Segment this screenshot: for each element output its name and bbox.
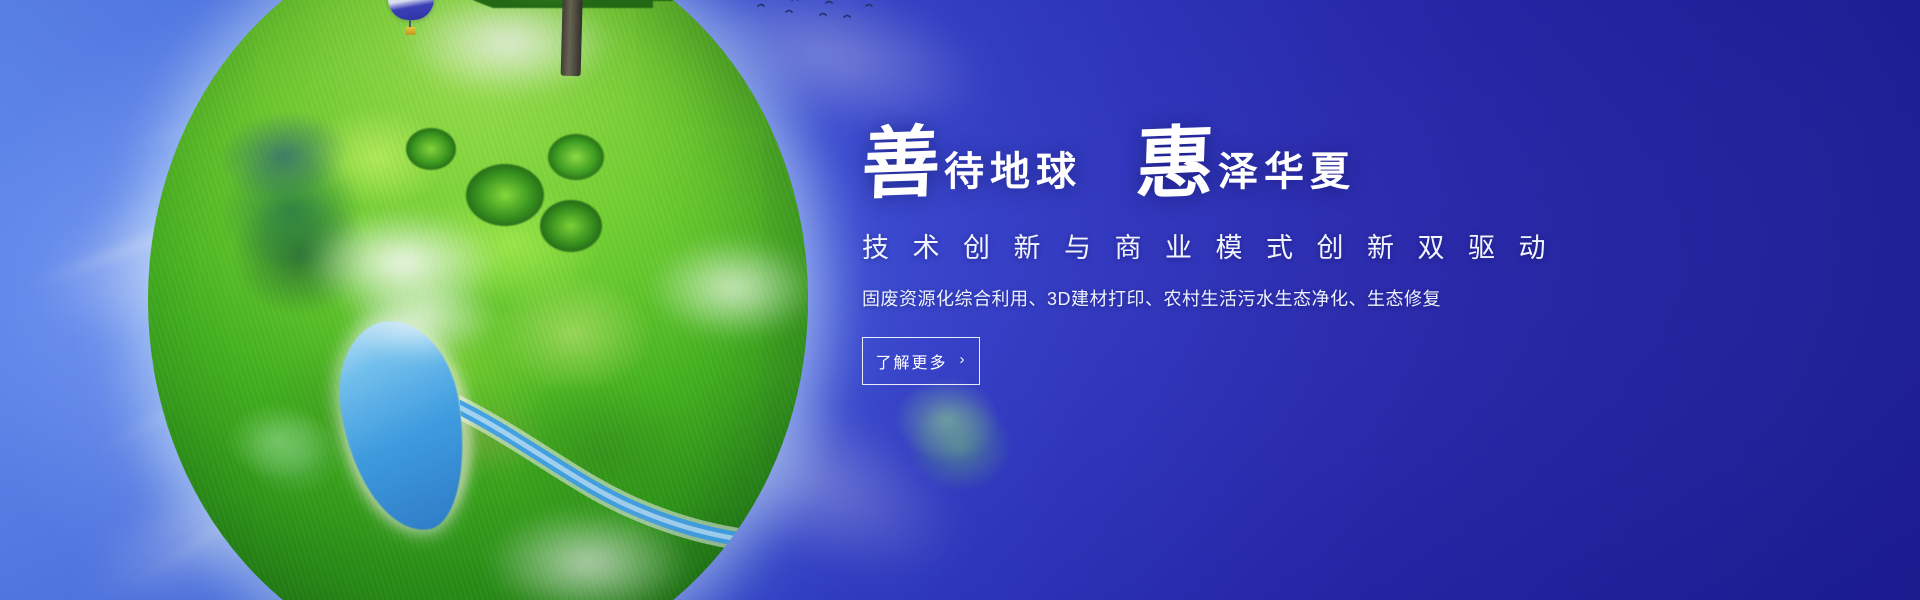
learn-more-label: 了解更多: [875, 349, 947, 373]
balloon-envelope: [388, 0, 434, 20]
large-tree: [416, 0, 716, 88]
hero-banner: 善 待地球 惠 泽华夏 技 术 创 新 与 商 业 模 式 创 新 双 驱 动 …: [0, 0, 1920, 600]
headline-lead-char-2: 惠: [1135, 127, 1220, 202]
hero-copy: 善 待地球 惠 泽华夏 技 术 创 新 与 商 业 模 式 创 新 双 驱 动 …: [862, 128, 1622, 385]
learn-more-button[interactable]: 了解更多 ›: [862, 337, 980, 385]
bush: [406, 128, 456, 170]
bush: [540, 200, 602, 252]
bush: [548, 134, 604, 180]
tree-trunk: [561, 0, 584, 76]
hot-air-balloon: [388, 0, 434, 38]
chevron-right-icon: ›: [960, 351, 967, 368]
headline-rest-1: 待地球: [944, 152, 1082, 200]
hero-description: 固废资源化综合利用、3D建材打印、农村生活污水生态净化、生态修复: [862, 285, 1622, 311]
bird-flock: [736, 0, 876, 24]
tiny-planet-illustration: [148, 0, 808, 600]
bush: [466, 164, 544, 226]
balloon-basket: [405, 27, 416, 35]
hero-headline: 善 待地球 惠 泽华夏: [862, 128, 1622, 200]
headline-lead-char-1: 善: [861, 127, 946, 202]
river: [458, 345, 808, 600]
headline-rest-2: 泽华夏: [1218, 152, 1356, 200]
hero-subtitle: 技 术 创 新 与 商 业 模 式 创 新 双 驱 动: [862, 226, 1622, 265]
